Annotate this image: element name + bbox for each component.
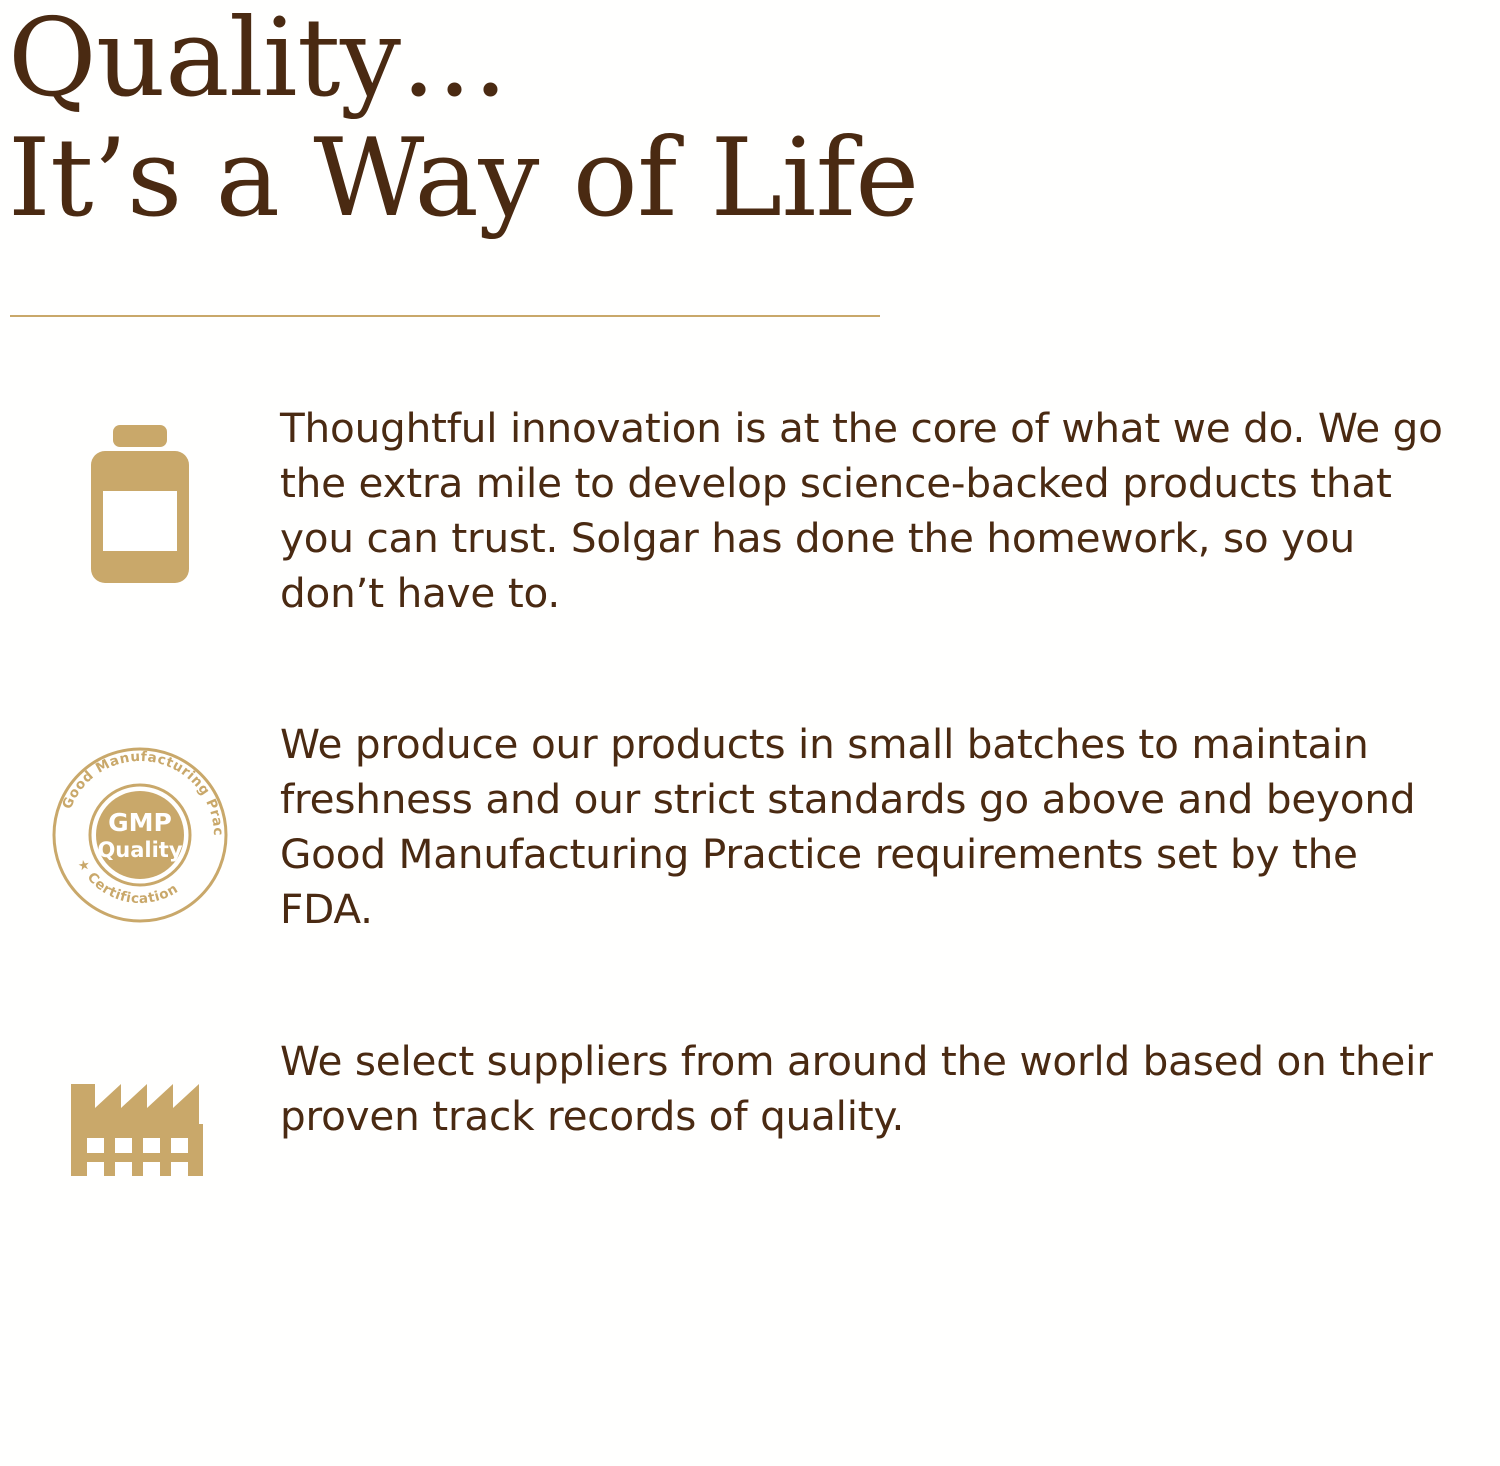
list-item: Thoughtful innovation is at the core of …	[0, 401, 1500, 621]
svg-text:Quality: Quality	[97, 838, 182, 862]
feature-text: We produce our products in small batches…	[280, 717, 1500, 937]
svg-text:GMP: GMP	[108, 808, 172, 837]
list-item: Good Manufacturing Practice ★ Certificat…	[0, 717, 1500, 937]
factory-icon	[0, 1034, 280, 1180]
feature-text: Thoughtful innovation is at the core of …	[280, 401, 1500, 621]
headline-line-2: It’s a Way of Life	[8, 116, 1500, 236]
page-title: Quality… It’s a Way of Life	[0, 0, 1500, 237]
headline-line-1: Quality…	[8, 0, 1500, 116]
list-item: We select suppliers from around the worl…	[0, 1034, 1500, 1180]
supplement-jar-icon	[0, 401, 280, 591]
feature-list: Thoughtful innovation is at the core of …	[0, 401, 1500, 1180]
quality-page: Quality… It’s a Way of Life Thoughtful i…	[0, 0, 1500, 1466]
gmp-quality-seal-icon: Good Manufacturing Practice ★ Certificat…	[0, 717, 280, 935]
feature-text: We select suppliers from around the worl…	[280, 1034, 1500, 1144]
divider	[10, 315, 880, 317]
